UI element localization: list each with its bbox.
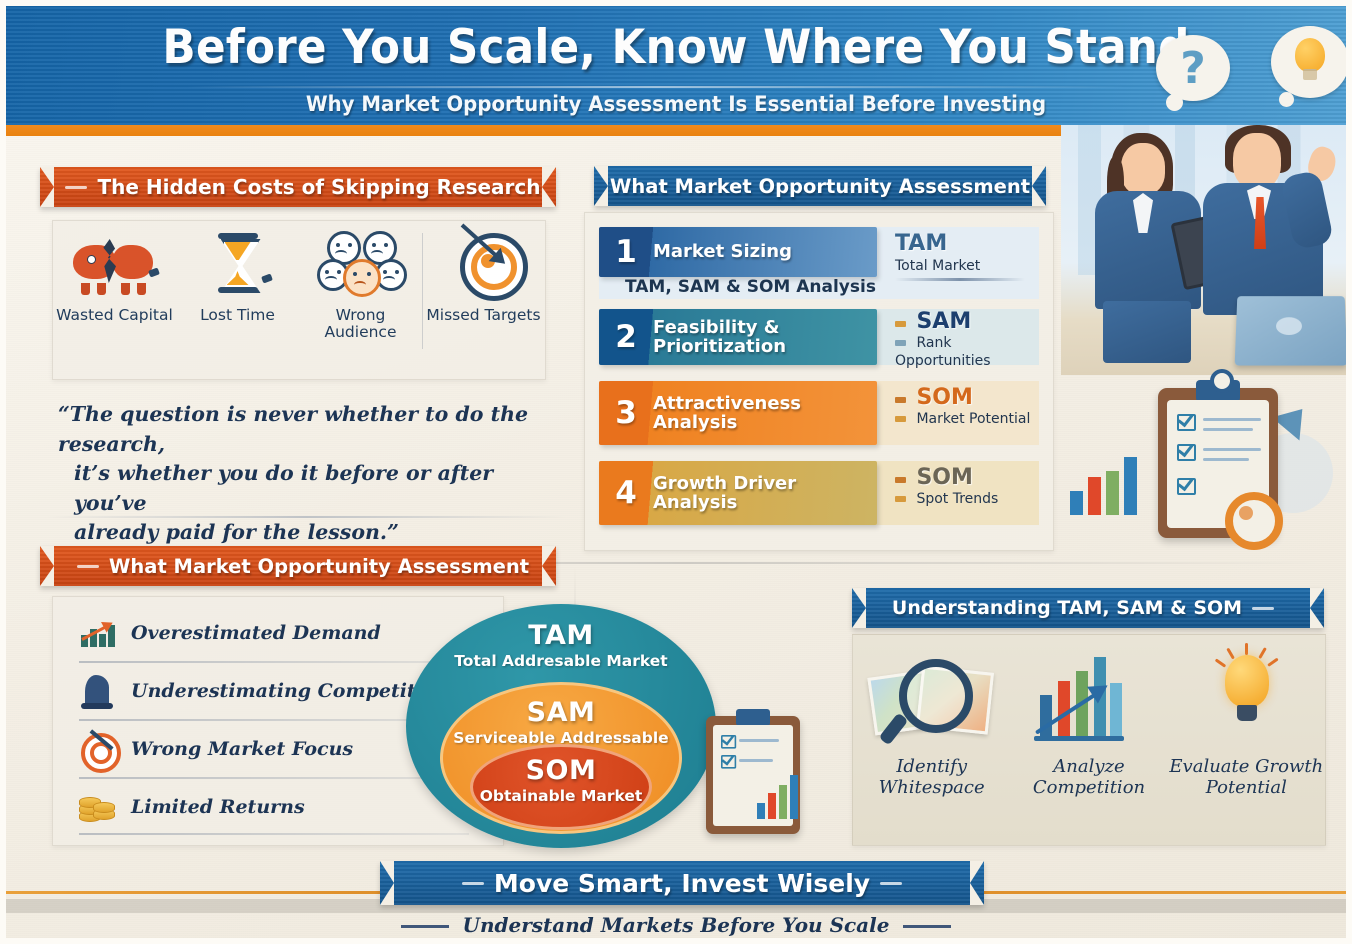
step-tag: TAM — [895, 231, 1039, 256]
banner-dash — [1252, 607, 1274, 610]
quote-line-1: “The question is never whether to do the… — [58, 400, 568, 459]
understanding-banner-label: Understanding TAM, SAM & SOM — [892, 597, 1242, 619]
step-tag-group: SOM Spot Trends — [895, 465, 1039, 508]
hidden-costs-banner-label: The Hidden Costs of Skipping Research — [97, 175, 540, 199]
step-tag-desc: Rank Opportunities — [895, 335, 991, 369]
cost-item-wrong-audience: Wrong Audience — [299, 221, 422, 379]
step-tag-group: TAM Total Market — [895, 231, 1039, 281]
idea-bubble-icon — [1271, 26, 1346, 98]
banner-dash — [77, 565, 99, 568]
step-row: 4 Growth Driver Analysis SOM Spot Trends — [599, 461, 1039, 525]
mistakes-banner: What Market Opportunity Assessment — [40, 546, 556, 586]
cost-label: Lost Time — [200, 307, 275, 324]
step-tag-desc: Total Market — [895, 258, 1039, 274]
page-title: Before You Scale, Know Where You Stand — [53, 20, 1299, 75]
business-people-illustration — [1061, 125, 1346, 375]
bar-chart-arrow-icon — [1024, 647, 1154, 751]
step-number: 3 — [599, 395, 653, 431]
understanding-label: Evaluate Growth Potential — [1168, 757, 1325, 799]
step-desc-line: Market Potential — [895, 410, 1039, 428]
understanding-label: Analyze Competition — [1010, 757, 1167, 799]
understanding-item-evaluate-growth: Evaluate Growth Potential — [1168, 635, 1325, 845]
hidden-costs-panel: Wasted Capital Lost Time — [52, 220, 546, 380]
step-row: 1 Market Sizing TAM, SAM & SOM Analysis … — [599, 227, 1039, 299]
som-name: Obtainable Market — [480, 787, 643, 805]
mistake-label: Overestimated Demand — [131, 622, 381, 644]
clipboard-illustration — [1058, 378, 1338, 563]
sam-abbr: SAM — [527, 697, 596, 728]
step-tag: SAM — [916, 309, 971, 334]
mistake-label: Limited Returns — [131, 796, 305, 818]
hidden-costs-banner: The Hidden Costs of Skipping Research — [40, 167, 556, 207]
footer-subtitle: Understand Markets Before You Scale — [463, 913, 890, 937]
quote-block: “The question is never whether to do the… — [58, 400, 568, 548]
assessment-banner-label: What Market Opportunity Assessment — [610, 175, 1030, 198]
woman-figure — [1089, 133, 1209, 363]
step-tag-line: SOM — [895, 385, 1039, 410]
assessment-banner: What Market Opportunity Assessment — [594, 166, 1046, 206]
bullet-icon — [895, 416, 906, 422]
quote-line-2: it’s whether you do it before or after y… — [58, 459, 568, 518]
mistake-label: Underestimating Competition — [131, 680, 449, 702]
understanding-item-identify-whitespace: Identify Whitespace — [853, 635, 1010, 845]
clipboard-icon — [1158, 388, 1278, 538]
cost-item-missed-targets: Missed Targets — [422, 221, 545, 379]
step-number: 4 — [599, 475, 653, 511]
mistakes-banner-label: What Market Opportunity Assessment — [109, 555, 529, 578]
quote-divider — [46, 516, 566, 518]
question-mark: ? — [1156, 43, 1230, 94]
broken-piggy-bank-icon — [69, 229, 161, 301]
header-divider — [186, 86, 1126, 88]
header-banner: Before You Scale, Know Where You Stand W… — [6, 6, 1346, 125]
tam-sam-som-diagram: TAM Total Addresable Market SAM Servicea… — [406, 604, 716, 848]
understanding-label: Identify Whitespace — [853, 757, 1010, 799]
som-abbr: SOM — [526, 755, 597, 786]
bullet-icon — [895, 496, 906, 502]
step-row: 3 Attractiveness Analysis SOM Market Pot… — [599, 381, 1039, 445]
cost-label: Missed Targets — [426, 307, 540, 324]
target-pen-icon — [79, 731, 115, 767]
infographic-poster: Before You Scale, Know Where You Stand W… — [0, 0, 1352, 944]
sad-faces-icon — [315, 229, 407, 301]
banner-dash — [462, 882, 484, 885]
footer-banner-label: Move Smart, Invest Wisely — [494, 869, 870, 898]
bullet-icon — [895, 321, 906, 327]
cost-item-wasted-capital: Wasted Capital — [53, 221, 176, 379]
footer-dash — [903, 925, 951, 928]
understanding-panel: Identify Whitespace Analyze Competition — [852, 634, 1326, 846]
step-tag-group: SAM Rank Opportunities — [895, 309, 1039, 370]
laptop-icon — [1235, 296, 1346, 365]
cost-label: Wasted Capital — [56, 307, 173, 324]
step-tag-line: SOM — [895, 465, 1039, 490]
step-tag-desc: Spot Trends — [916, 491, 998, 507]
clipboard-chart-icon — [706, 716, 800, 834]
question-bubble-icon: ? — [1156, 35, 1230, 101]
lightbulb-icon — [1295, 38, 1325, 72]
magnifier-map-icon — [867, 647, 997, 751]
step-subtitle: TAM, SAM & SOM Analysis — [625, 277, 876, 297]
mini-bar-chart-icon — [1070, 453, 1150, 515]
mistake-label: Wrong Market Focus — [131, 738, 353, 760]
bullet-icon — [895, 477, 906, 483]
target-arrow-icon — [438, 229, 530, 301]
assessment-steps-panel: 1 Market Sizing TAM, SAM & SOM Analysis … — [584, 212, 1054, 551]
footer-banner: Move Smart, Invest Wisely — [380, 861, 984, 905]
understanding-banner: Understanding TAM, SAM & SOM — [852, 588, 1324, 628]
bullet-icon — [895, 397, 906, 403]
step-title: Feasibility & Prioritization — [653, 318, 833, 356]
tam-name: Total Addresable Market — [454, 652, 667, 670]
step-desc-line: Rank Opportunities — [895, 334, 1039, 370]
step-title: Market Sizing — [653, 242, 792, 261]
chess-knight-icon — [79, 673, 115, 709]
page-subtitle: Why Market Opportunity Assessment Is Ess… — [46, 92, 1306, 116]
banner-dash — [65, 186, 87, 189]
step-tag: SOM — [916, 465, 972, 490]
step-tag-desc: Market Potential — [916, 411, 1030, 427]
quote-line-3: already paid for the lesson.” — [58, 518, 568, 548]
step-title: Attractiveness Analysis — [653, 394, 833, 432]
banner-dash — [880, 882, 902, 885]
bullet-icon — [895, 340, 906, 346]
step-number: 1 — [599, 234, 653, 270]
understanding-item-analyze-competition: Analyze Competition — [1010, 635, 1167, 845]
coin-stack-icon — [79, 789, 115, 825]
cost-divider — [422, 233, 423, 349]
som-oval: SOM Obtainable Market — [470, 744, 652, 830]
step-number: 2 — [599, 319, 653, 355]
step-desc-line: Spot Trends — [895, 490, 1039, 508]
tam-abbr: TAM — [528, 620, 594, 651]
footer-dash — [401, 925, 449, 928]
step-title: Growth Driver Analysis — [653, 474, 833, 512]
step-tag-group: SOM Market Potential — [895, 385, 1039, 428]
footer-subtitle-group: Understand Markets Before You Scale — [6, 913, 1346, 937]
step-tag-line: SAM — [895, 309, 1039, 334]
rising-chart-icon — [79, 615, 115, 651]
cost-item-lost-time: Lost Time — [176, 221, 299, 379]
growth-arrow-icon — [1272, 397, 1316, 440]
step-tag-underline — [895, 278, 1025, 281]
step-row: 2 Feasibility & Prioritization SAM Rank … — [599, 309, 1039, 365]
step-tag: SOM — [916, 385, 972, 410]
hourglass-icon — [192, 229, 284, 301]
lightbulb-icon — [1181, 647, 1311, 751]
cost-label: Wrong Audience — [299, 307, 422, 342]
